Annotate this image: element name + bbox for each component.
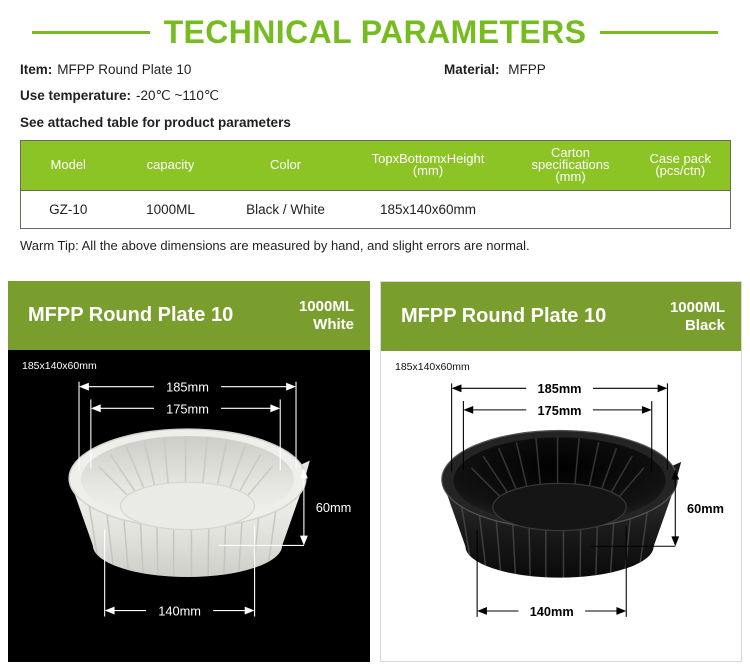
- product-panel-white-badge: 1000ML White: [299, 298, 354, 333]
- column-header-carton: Carton specifications (mm): [511, 140, 631, 191]
- title-rule-right: [600, 31, 718, 34]
- dimension-label-inner-top-black: 175mm: [538, 403, 582, 418]
- product-panel-black-color: Black: [670, 317, 725, 335]
- info-row-item: Item: MFPP Round Plate 10 Material: MFPP: [20, 62, 750, 77]
- attached-table-note: See attached table for product parameter…: [20, 115, 750, 130]
- cell-carton: [511, 191, 631, 229]
- product-figure-white: 185mm 175mm 140mm: [8, 350, 370, 662]
- product-panel-white-color: White: [299, 316, 354, 334]
- table-row: GZ-10 1000ML Black / White 185x140x60mm: [21, 191, 731, 229]
- column-header-dimensions-line2: (mm): [348, 165, 509, 177]
- cell-case-pack: [631, 191, 731, 229]
- column-header-carton-line3: (mm): [513, 171, 629, 183]
- dimension-label-height-white: 60mm: [316, 500, 352, 515]
- cell-capacity: 1000ML: [116, 191, 226, 229]
- spec-table-wrapper: Model capacity Color TopxBottomxHeight (…: [0, 140, 750, 230]
- column-header-case-pack-line2: (pcs/ctn): [633, 165, 729, 177]
- dimension-label-base-white: 140mm: [158, 603, 201, 618]
- material-group: Material: MFPP: [444, 62, 546, 77]
- column-header-model: Model: [21, 140, 116, 191]
- product-panel-black-badge: 1000ML Black: [670, 299, 725, 334]
- column-header-capacity: capacity: [116, 140, 226, 191]
- product-panel-white-title: MFPP Round Plate 10: [28, 304, 233, 327]
- material-label: Material:: [444, 62, 500, 77]
- product-panel-white: MFPP Round Plate 10 1000ML White 185x140…: [8, 281, 370, 662]
- dimension-label-outer-top-black: 185mm: [538, 381, 582, 396]
- product-info-block: Item: MFPP Round Plate 10 Material: MFPP…: [0, 56, 750, 130]
- use-temperature-value: -20℃ ~110℃: [136, 88, 219, 104]
- product-panel-black-body: 185x140x60mm: [381, 351, 741, 662]
- dimension-label-height-black: 60mm: [687, 501, 724, 516]
- dimension-label-base-black: 140mm: [530, 604, 574, 619]
- item-value: MFPP Round Plate 10: [57, 62, 191, 77]
- dimension-label-outer-top-white: 185mm: [166, 380, 209, 395]
- product-panels: MFPP Round Plate 10 1000ML White 185x140…: [0, 281, 750, 662]
- material-value: MFPP: [508, 62, 546, 77]
- spec-table-head: Model capacity Color TopxBottomxHeight (…: [21, 140, 731, 191]
- product-panel-black-title: MFPP Round Plate 10: [401, 305, 606, 328]
- spec-table-header-row: Model capacity Color TopxBottomxHeight (…: [21, 140, 731, 191]
- warm-tip: Warm Tip: All the above dimensions are m…: [0, 229, 750, 253]
- product-panel-black-header: MFPP Round Plate 10 1000ML Black: [381, 282, 741, 351]
- cell-color: Black / White: [226, 191, 346, 229]
- column-header-dimensions: TopxBottomxHeight (mm): [346, 140, 511, 191]
- spec-table-body: GZ-10 1000ML Black / White 185x140x60mm: [21, 191, 731, 229]
- cell-model: GZ-10: [21, 191, 116, 229]
- technical-parameters-sheet: TECHNICAL PARAMETERS Item: MFPP Round Pl…: [0, 0, 750, 671]
- info-row-temperature: Use temperature: -20℃ ~110℃: [20, 88, 750, 104]
- column-header-capacity-line1: capacity: [147, 157, 195, 172]
- column-header-color: Color: [226, 140, 346, 191]
- use-temperature-label: Use temperature:: [20, 88, 131, 103]
- product-panel-white-header: MFPP Round Plate 10 1000ML White: [8, 281, 370, 350]
- spec-table: Model capacity Color TopxBottomxHeight (…: [20, 140, 731, 230]
- product-panel-black: MFPP Round Plate 10 1000ML Black 185x140…: [380, 281, 742, 662]
- column-header-case-pack: Case pack (pcs/ctn): [631, 140, 731, 191]
- product-panel-white-capacity: 1000ML: [299, 298, 354, 316]
- product-panel-black-capacity: 1000ML: [670, 299, 725, 317]
- page-title: TECHNICAL PARAMETERS: [164, 16, 587, 50]
- dimension-label-inner-top-white: 175mm: [166, 401, 209, 416]
- product-figure-black: 185mm 175mm 140mm: [381, 351, 741, 662]
- column-header-color-line1: Color: [270, 157, 301, 172]
- cell-dimensions: 185x140x60mm: [346, 191, 511, 229]
- column-header-model-line1: Model: [51, 157, 86, 172]
- page-title-row: TECHNICAL PARAMETERS: [0, 0, 750, 56]
- product-panel-white-body: 185x140x60mm: [8, 350, 370, 662]
- title-rule-left: [32, 31, 150, 34]
- item-label: Item:: [20, 62, 52, 77]
